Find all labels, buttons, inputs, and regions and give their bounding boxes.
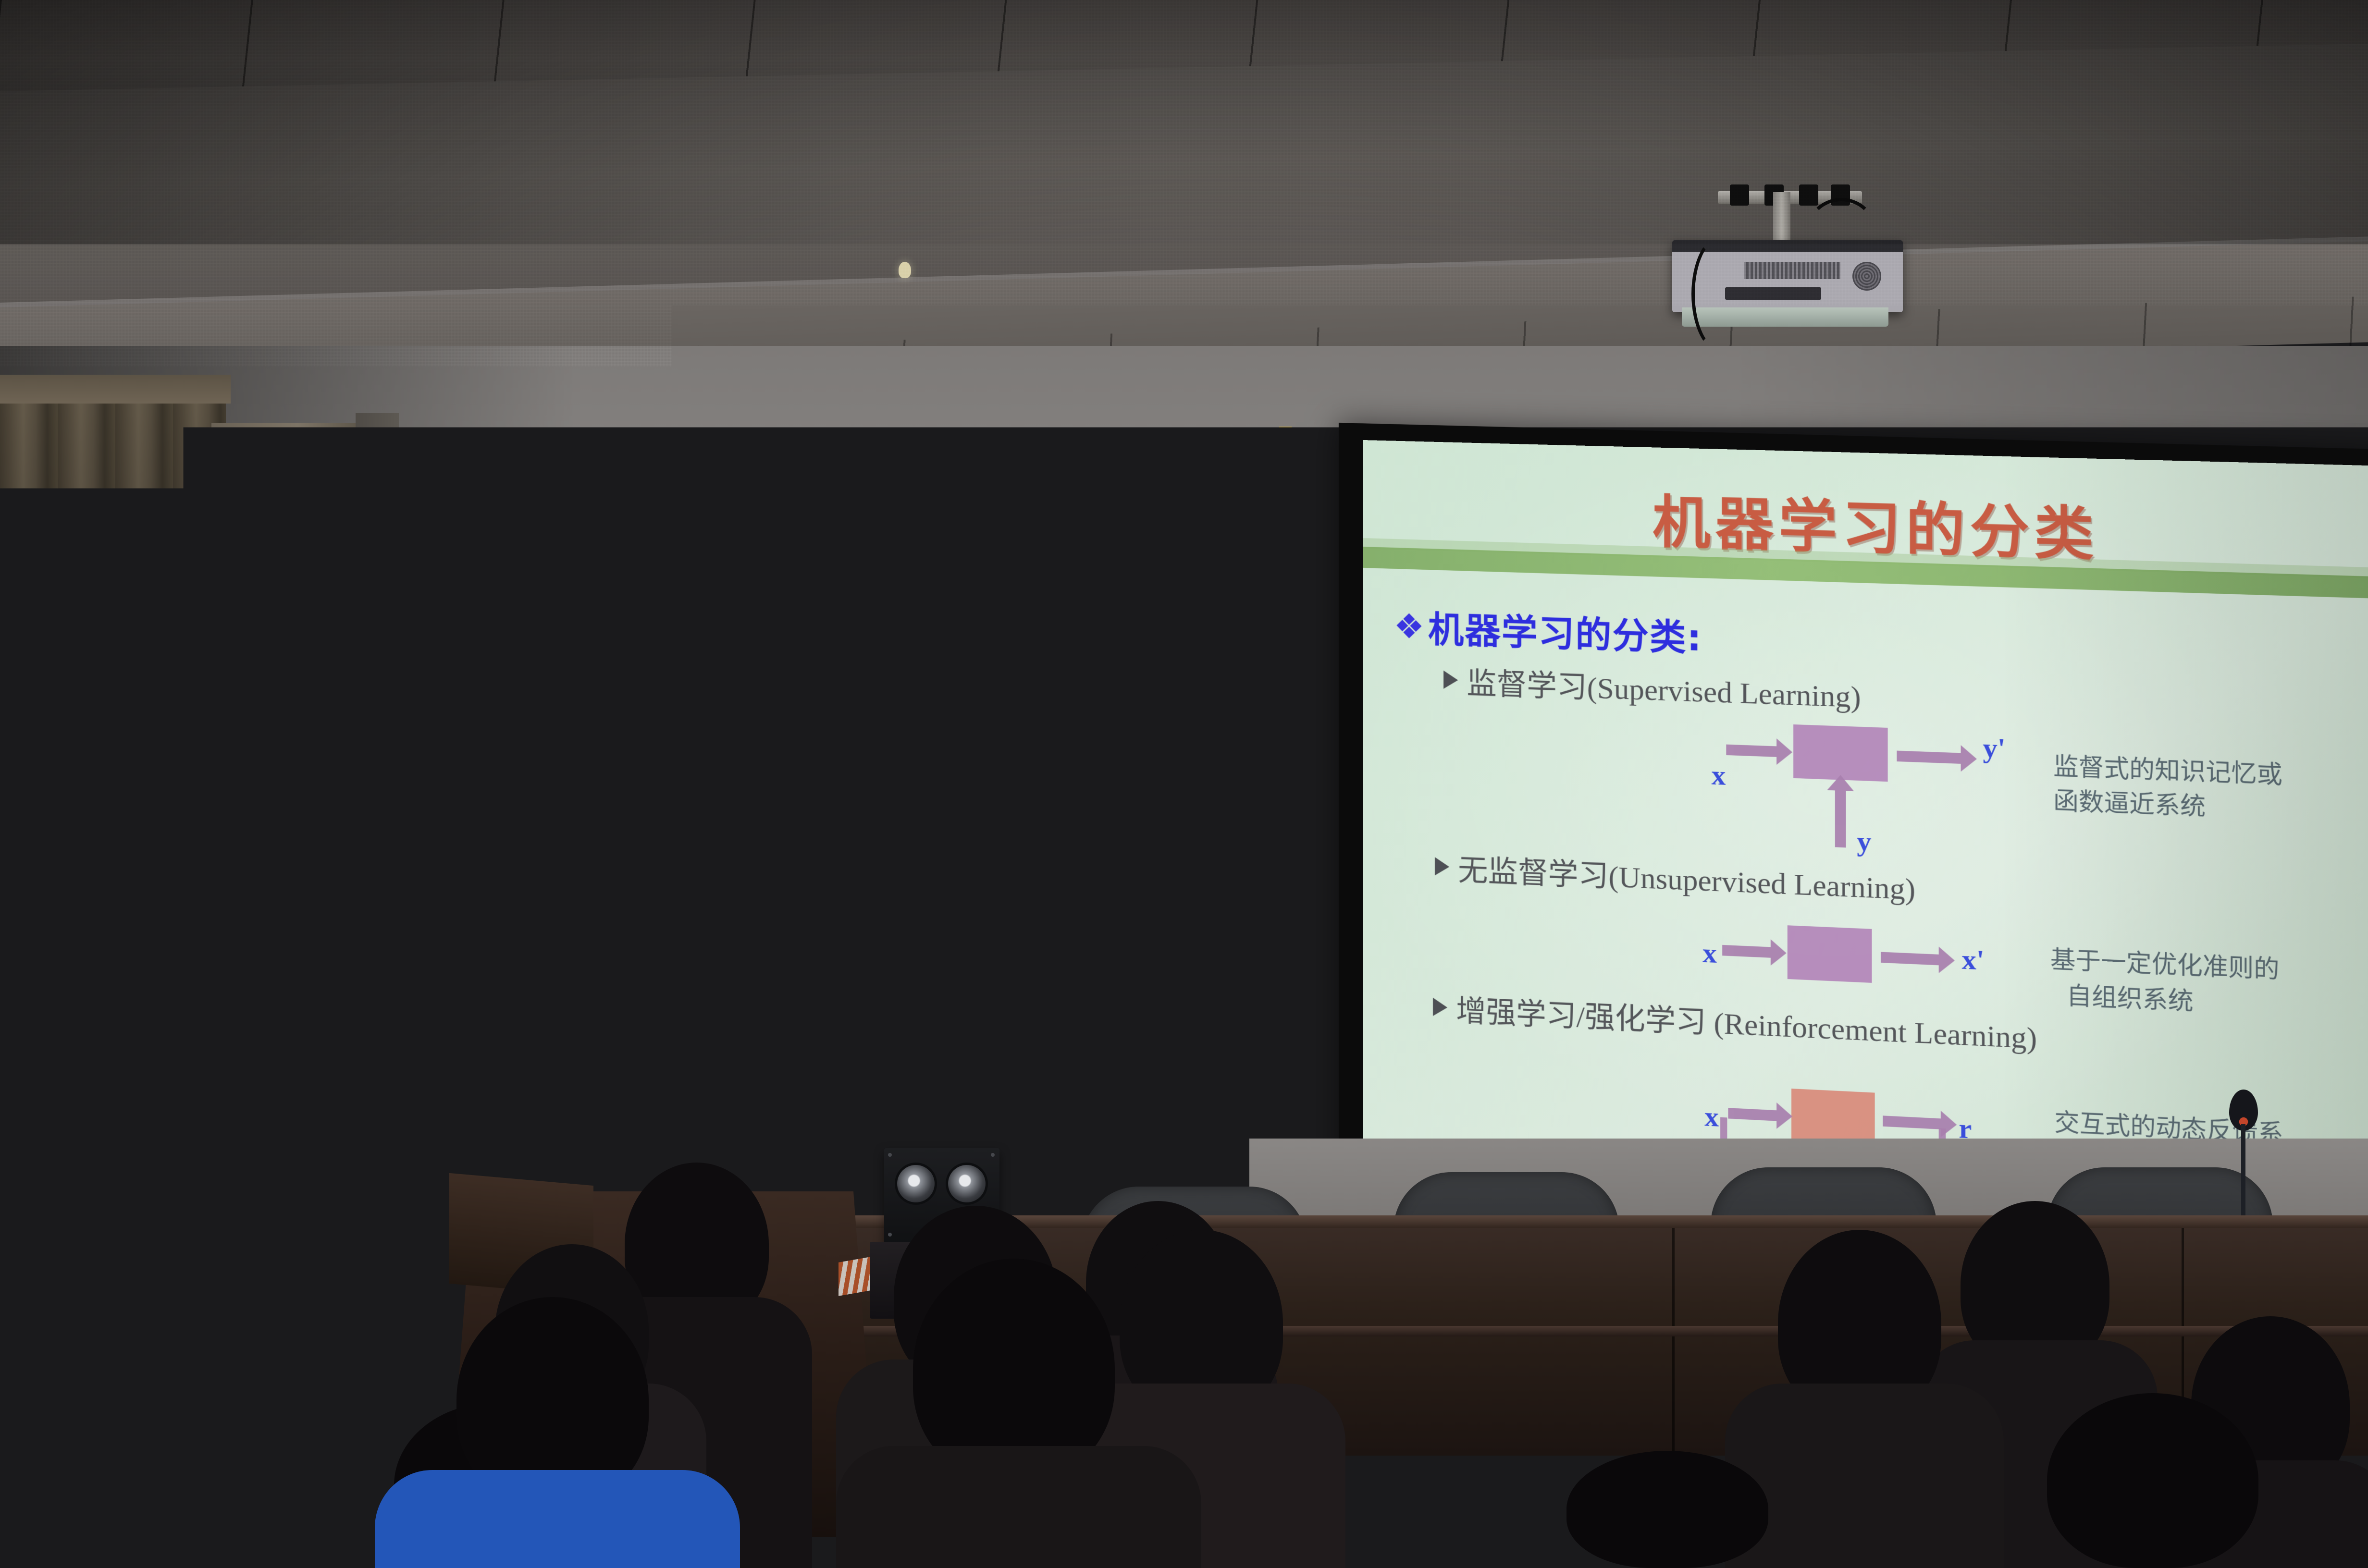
presenter-glasses-icon bbox=[623, 832, 732, 857]
annotation-supervised-line2: 函数逼近系统 bbox=[2053, 785, 2206, 822]
arrow-bullet-icon bbox=[1433, 998, 1447, 1017]
speaker-screw-bl bbox=[888, 1233, 892, 1237]
diagram-arrow-in-unsupervised bbox=[1722, 945, 1772, 958]
slide-heading: 机器学习的分类: bbox=[1398, 600, 1702, 661]
diagram-label-yprime-supervised: y' bbox=[1983, 731, 2005, 765]
curtain-rail bbox=[0, 375, 231, 404]
cabinet-door[interactable] bbox=[223, 452, 337, 1204]
panel-table-seam-1 bbox=[1672, 1228, 1675, 1456]
audience-body bbox=[1725, 1384, 2004, 1568]
annotation-unsupervised-line1: 基于一定优化准则的 bbox=[2050, 943, 2280, 985]
diamond-bullet-icon bbox=[1398, 614, 1420, 637]
diagram-box-supervised bbox=[1793, 724, 1887, 782]
presenter-mouth bbox=[665, 880, 695, 894]
diagram-label-x-unsupervised: x bbox=[1702, 936, 1717, 969]
projector-mount-clip-right bbox=[1799, 184, 1818, 206]
podium-top-surface bbox=[570, 1128, 761, 1157]
diagram-label-xprime-unsupervised: x' bbox=[1962, 943, 1985, 977]
projector-cable-left bbox=[1691, 235, 1751, 353]
speaker-screw-tl bbox=[888, 1153, 892, 1157]
arrow-bullet-icon bbox=[1443, 671, 1458, 689]
audience-body-blue-coat bbox=[375, 1470, 740, 1568]
ceiling-fixture-icon bbox=[899, 262, 911, 278]
diagram-arrow-in-supervised bbox=[1726, 745, 1777, 757]
slide-heading-text: 机器学习的分类: bbox=[1428, 600, 1702, 661]
projector-mount-rod bbox=[1773, 192, 1790, 245]
slide-item-reinforcement: 增强学习/强化学习 (Reinforcement Learning) bbox=[1433, 985, 2037, 1057]
diagram-arrow-out-supervised bbox=[1897, 751, 1961, 764]
audience-head bbox=[1566, 1451, 1768, 1568]
curtain-shading bbox=[0, 380, 226, 1215]
speaker-screw-tr bbox=[991, 1153, 995, 1157]
diagram-label-y-supervised: y bbox=[1857, 824, 1871, 857]
presenter-nose bbox=[667, 855, 678, 876]
audience-body bbox=[836, 1446, 1201, 1568]
annotation-unsupervised-line2: 自组织系统 bbox=[2067, 980, 2194, 1017]
speaker-cone-left-icon bbox=[895, 1163, 937, 1205]
lecture-hall-photo: 机器学习的分类 机器学习的分类: 监督学习(Supervised Learnin… bbox=[0, 0, 2368, 1568]
stand-microphone-stem bbox=[2241, 1124, 2245, 1230]
slide-item-unsupervised: 无监督学习(Unsupervised Learning) bbox=[1435, 845, 1915, 908]
annotation-supervised-line1: 监督式的知识记忆或 bbox=[2053, 750, 2282, 791]
slide-item-reinforcement-label: 增强学习/强化学习 (Reinforcement Learning) bbox=[1456, 986, 2037, 1057]
audience-head bbox=[2047, 1393, 2258, 1568]
diagram-arrow-out-reinforcement bbox=[1883, 1115, 1942, 1129]
speaker-cone-right-icon bbox=[946, 1163, 988, 1205]
audience-head bbox=[1312, 1374, 1514, 1568]
projector-cable-right bbox=[1807, 198, 1876, 262]
slide-item-supervised: 监督学习(Supervised Learning) bbox=[1443, 658, 1861, 716]
projector-vent-grille bbox=[1744, 262, 1840, 279]
arrow-bullet-icon bbox=[1435, 857, 1449, 876]
diagram-label-x-reinforcement: x bbox=[1704, 1100, 1719, 1133]
diagram-arrow-out-unsupervised bbox=[1881, 952, 1940, 966]
slide-item-unsupervised-label: 无监督学习(Unsupervised Learning) bbox=[1458, 845, 1915, 908]
presenter-other-hand bbox=[724, 1014, 784, 1060]
presenter bbox=[538, 778, 807, 1163]
projector-fan-icon bbox=[1852, 262, 1881, 291]
diagram-arrow-feedback-supervised bbox=[1835, 789, 1846, 847]
slide-item-supervised-label: 监督学习(Supervised Learning) bbox=[1467, 659, 1861, 716]
projector-mount-clip-left bbox=[1730, 184, 1749, 206]
diagram-label-x-supervised: x bbox=[1712, 759, 1726, 792]
audience-body-blue-jacket bbox=[19, 1432, 279, 1568]
diagram-arrow-in-reinforcement bbox=[1728, 1108, 1777, 1121]
diagram-box-unsupervised bbox=[1788, 925, 1872, 983]
screen-wall-bracket bbox=[1279, 427, 1292, 467]
